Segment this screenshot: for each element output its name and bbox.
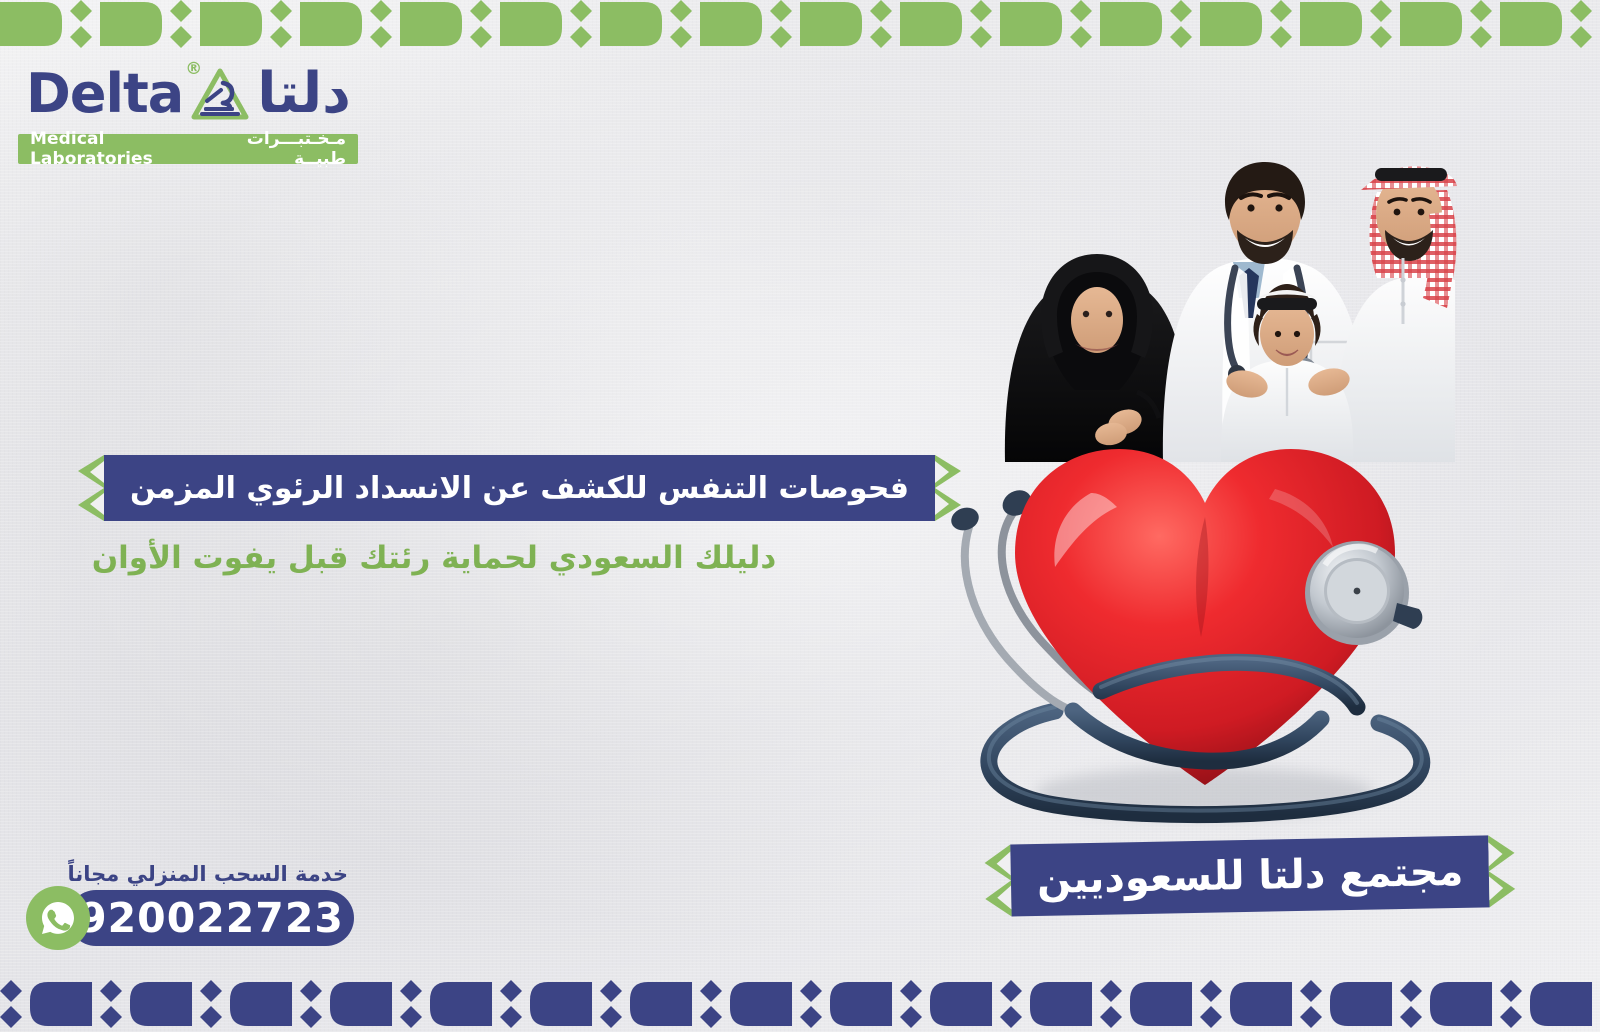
- red-heart-with-stethoscope-illustration: [905, 385, 1505, 835]
- logo-latin-name: Delta: [26, 67, 183, 121]
- bottom-decorative-border: [0, 974, 1600, 1032]
- brand-logo[interactable]: Delta ® دلتا Medical Laboratories مـخـتب…: [18, 58, 358, 164]
- headline-ribbon: فحوصات التنفس للكشف عن الانسداد الرئوي ا…: [78, 455, 961, 525]
- community-ribbon-right-ornament-icon: [1489, 835, 1516, 911]
- whatsapp-icon[interactable]: [26, 886, 90, 950]
- community-ribbon-left-ornament-icon: [984, 845, 1011, 921]
- phone-number-pill[interactable]: 920022723: [68, 890, 354, 946]
- community-ribbon-body: مجتمع دلتا للسعوديين: [1010, 835, 1490, 916]
- community-ribbon-text: مجتمع دلتا للسعوديين: [1037, 849, 1464, 903]
- phone-row[interactable]: 920022723: [26, 890, 356, 948]
- top-decorative-border: [0, 0, 1600, 48]
- registered-trademark-symbol: ®: [185, 61, 202, 78]
- ribbon-right-ornament-icon: [935, 455, 961, 525]
- logo-arabic-name: دلتا: [257, 66, 351, 122]
- microscope-icon: ®: [189, 65, 251, 123]
- headline-subline: دليلك السعودي لحماية رئتك قبل يفوت الأوا…: [78, 540, 790, 576]
- ribbon-left-ornament-icon: [78, 455, 104, 525]
- logo-tagline-english: Medical Laboratories: [30, 129, 208, 169]
- top-border-pattern-row: [0, 0, 1592, 48]
- home-collection-note: خدمة السحب المنزلي مجاناً: [26, 862, 356, 886]
- logo-wordmark-row: Delta ® دلتا: [18, 58, 358, 130]
- headline-text: فحوصات التنفس للكشف عن الانسداد الرئوي ا…: [130, 471, 909, 506]
- logo-tagline-band: Medical Laboratories مـخـتبـــرات طبيــة: [18, 134, 358, 164]
- phone-number: 920022723: [78, 894, 344, 942]
- contact-block[interactable]: خدمة السحب المنزلي مجاناً 920022723: [26, 862, 356, 948]
- stethoscope-chestpiece: [1305, 541, 1422, 645]
- community-ribbon: مجتمع دلتا للسعوديين: [984, 835, 1516, 921]
- banner-canvas: Delta ® دلتا Medical Laboratories مـخـتب…: [0, 0, 1600, 1032]
- bottom-border-pattern-row: [0, 980, 1592, 1028]
- headline-ribbon-body: فحوصات التنفس للكشف عن الانسداد الرئوي ا…: [104, 455, 935, 521]
- logo-tagline-arabic: مـخـتبـــرات طبيــة: [208, 129, 346, 169]
